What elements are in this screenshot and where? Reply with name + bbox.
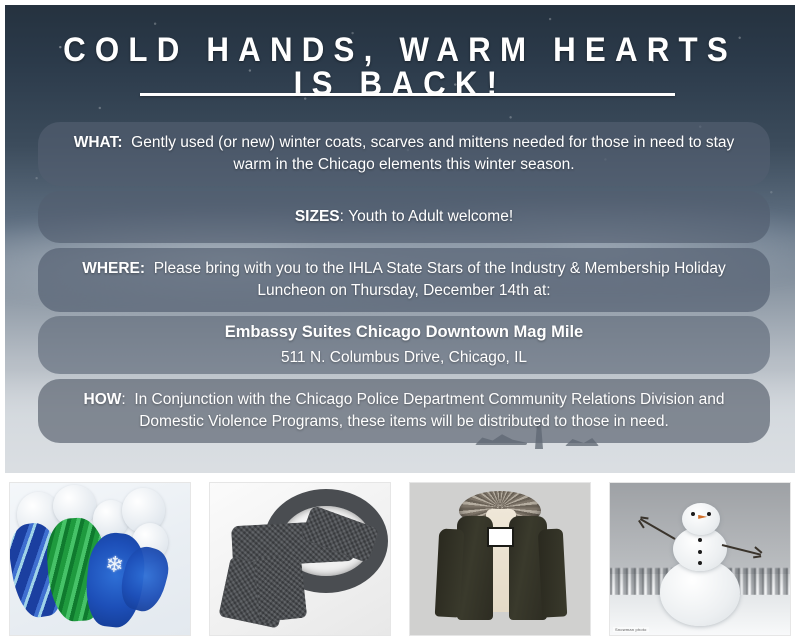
hero-banner: COLD HANDS, WARM HEARTS IS BACK! WHAT: G… — [5, 5, 795, 473]
venue-block: Embassy Suites Chicago Downtown Mag Mile… — [38, 316, 770, 374]
photo-snowman: Snowman photo — [600, 478, 800, 640]
info-block-what: WHAT: Gently used (or new) winter coats,… — [38, 122, 770, 186]
where-label: WHERE — [82, 260, 140, 277]
title-underline-rule — [140, 93, 675, 96]
photo-gray-knit-scarf — [200, 478, 400, 640]
scarf-tail — [254, 554, 307, 622]
what-label: WHAT — [74, 134, 118, 151]
parka-left-sleeve — [435, 528, 465, 617]
snowman-photo-credit: Snowman photo — [613, 627, 649, 632]
photo-strip: ❄ — [0, 478, 800, 640]
winter-coat-drive-flyer: COLD HANDS, WARM HEARTS IS BACK! WHAT: G… — [0, 0, 800, 640]
parka-right-sleeve — [537, 528, 567, 617]
snowman-eye — [691, 512, 695, 516]
what-separator: : — [117, 134, 122, 151]
parka-hang-tag — [487, 527, 514, 547]
sizes-label: SIZES — [295, 208, 340, 225]
snowman-head — [682, 503, 720, 535]
snowman-button — [698, 538, 702, 542]
how-text: In Conjunction with the Chicago Police D… — [134, 391, 724, 430]
how-separator: : — [121, 391, 125, 408]
info-block-sizes: SIZES: Youth to Adult welcome! — [38, 191, 770, 243]
where-separator: : — [140, 260, 145, 277]
what-text: Gently used (or new) winter coats, scarv… — [131, 134, 734, 173]
how-label: HOW — [84, 391, 122, 408]
snowflake-icon: ❄ — [105, 553, 126, 577]
venue-name: Embassy Suites Chicago Downtown Mag Mile — [225, 321, 583, 344]
photo-winter-parka-coat — [400, 478, 600, 640]
sizes-separator: : — [340, 208, 344, 225]
where-text: Please bring with you to the IHLA State … — [154, 260, 726, 299]
sizes-text: Youth to Adult welcome! — [348, 208, 513, 225]
photo-knit-mittens-on-snow: ❄ — [0, 478, 200, 640]
venue-address: 511 N. Columbus Drive, Chicago, IL — [225, 347, 583, 369]
info-block-where: WHERE: Please bring with you to the IHLA… — [38, 248, 770, 312]
info-block-how: HOW: In Conjunction with the Chicago Pol… — [38, 379, 770, 443]
flyer-title: COLD HANDS, WARM HEARTS IS BACK! — [37, 33, 764, 101]
snowman-button — [698, 561, 702, 565]
